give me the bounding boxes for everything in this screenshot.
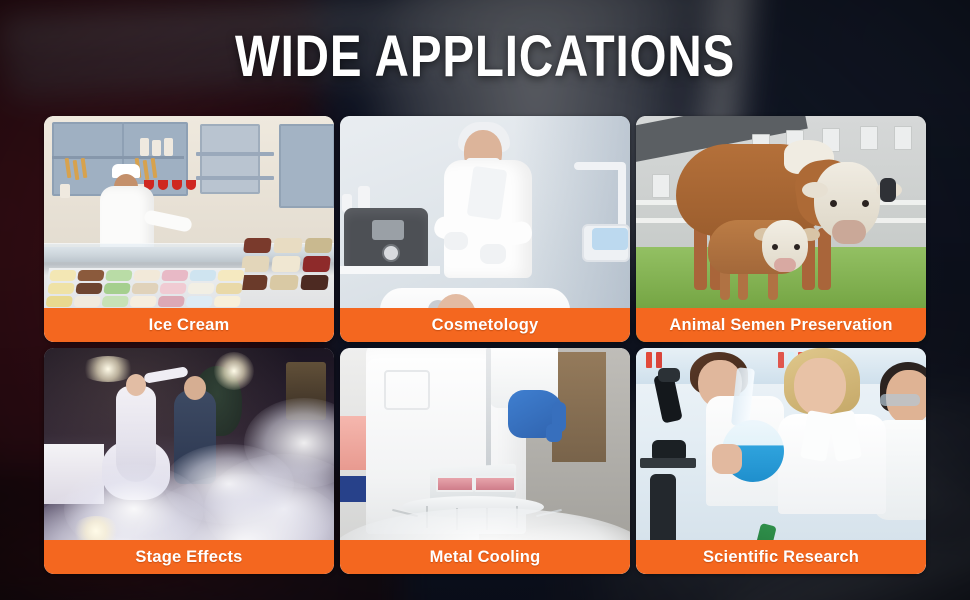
card-label: Scientific Research xyxy=(636,540,926,574)
application-card-ice-cream[interactable]: Ice Cream xyxy=(44,116,334,342)
application-card-cosmetology[interactable]: Cosmetology xyxy=(340,116,630,342)
application-card-stage-effects[interactable]: Stage Effects xyxy=(44,348,334,574)
card-label: Metal Cooling xyxy=(340,540,630,574)
card-label: Animal Semen Preservation xyxy=(636,308,926,342)
application-card-metal-cooling[interactable]: Metal Cooling xyxy=(340,348,630,574)
application-card-animal-semen-preservation[interactable]: Animal Semen Preservation xyxy=(636,116,926,342)
page-title: WIDE APPLICATIONS xyxy=(87,28,882,86)
card-label: Stage Effects xyxy=(44,540,334,574)
wide-applications-banner: WIDE APPLICATIONS xyxy=(0,0,970,600)
application-card-scientific-research[interactable]: Scientific Research xyxy=(636,348,926,574)
applications-grid: Ice Cream xyxy=(44,116,926,576)
card-label: Cosmetology xyxy=(340,308,630,342)
card-label: Ice Cream xyxy=(44,308,334,342)
